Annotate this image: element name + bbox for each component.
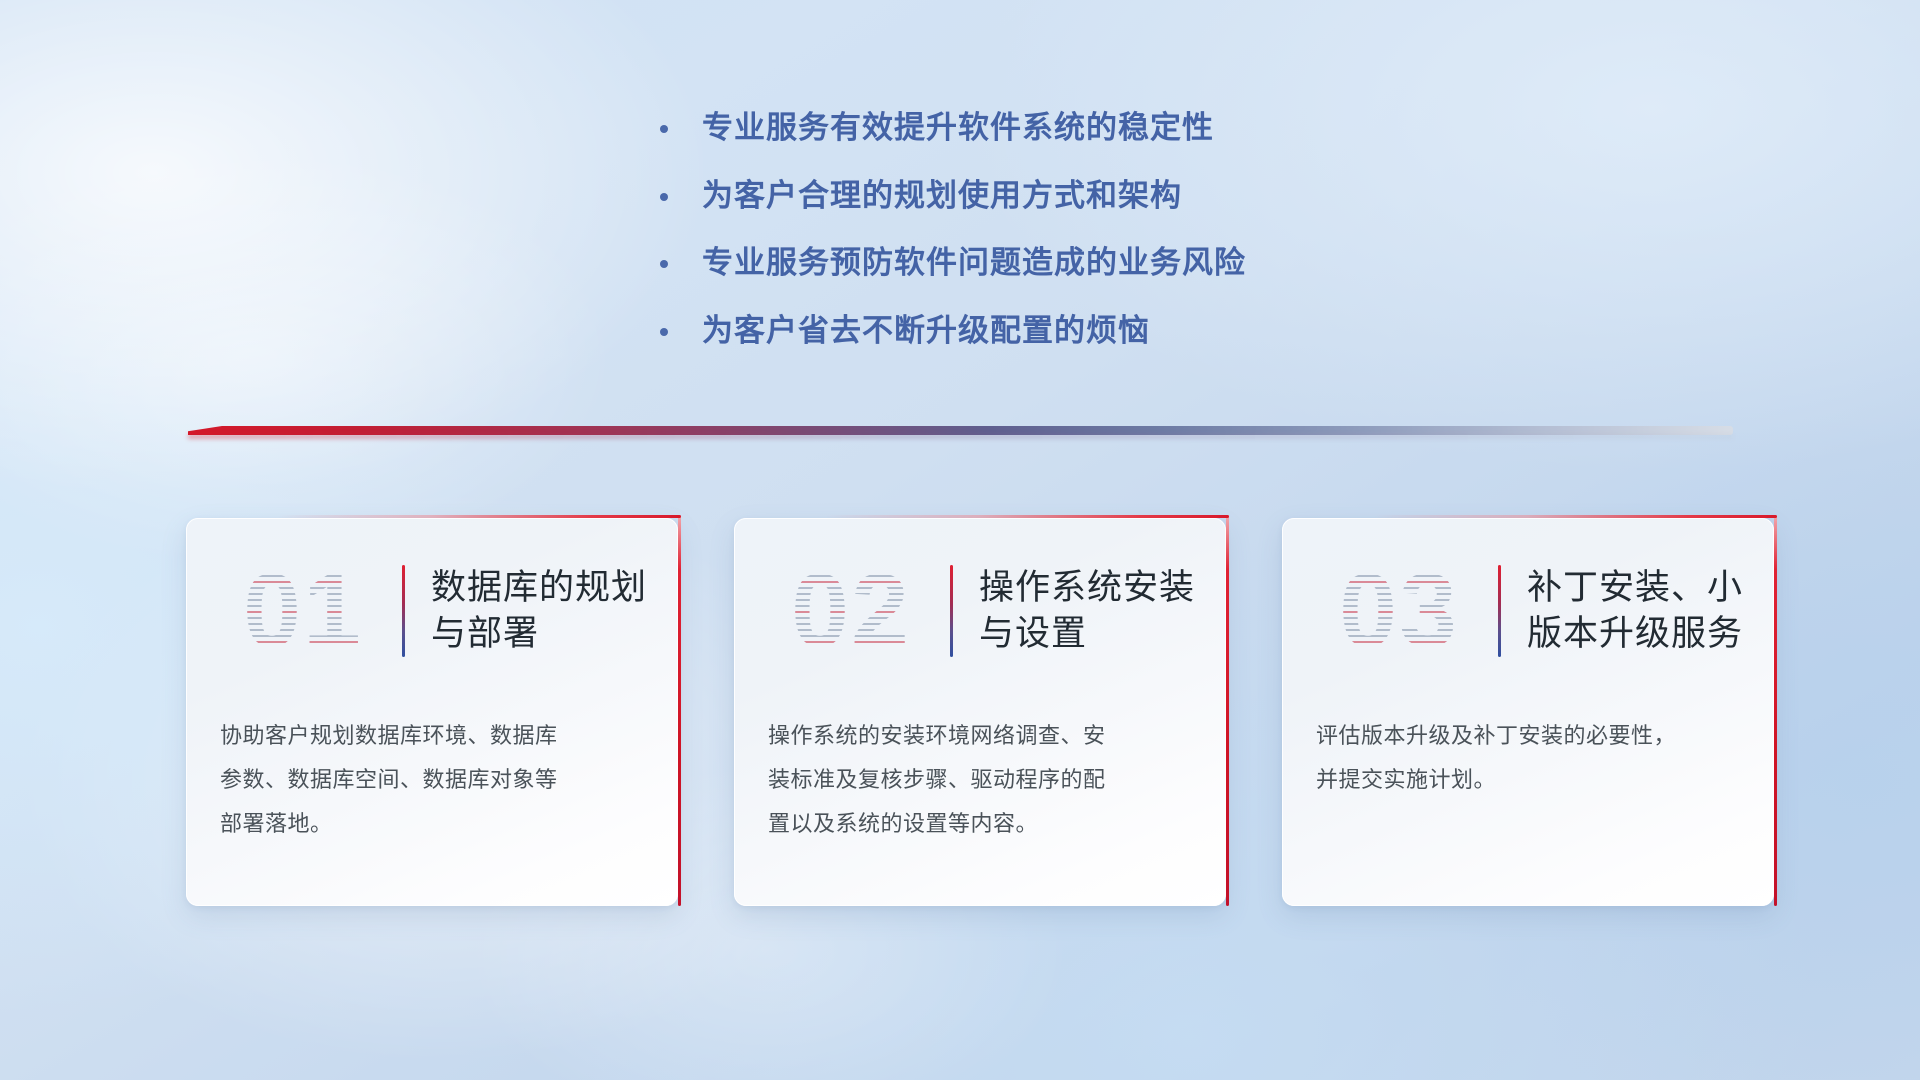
card-header: 0202 操作系统安装 与设置 [734, 546, 1226, 676]
card-header: 0303 补丁安装、小 版本升级服务 [1282, 546, 1774, 676]
card-divider-bar [1498, 565, 1501, 657]
bullet-dot-icon [660, 125, 668, 133]
card-title: 补丁安装、小 版本升级服务 [1527, 565, 1753, 657]
card-divider-bar [950, 565, 953, 657]
card-number: 0101 [210, 551, 396, 671]
bullet-text: 为客户合理的规划使用方式和架构 [702, 176, 1182, 216]
card-number-tint: 01 [210, 551, 396, 671]
card-body-text: 协助客户规划数据库环境、数据库 参数、数据库空间、数据库对象等 部署落地。 [220, 714, 648, 846]
divider-glow [188, 434, 1733, 439]
card-divider-bar [402, 565, 405, 657]
card-accent-edge [1774, 515, 1777, 906]
list-item: 为客户合理的规划使用方式和架构 [660, 176, 1246, 216]
card-number-tint: 02 [758, 551, 944, 671]
bullet-dot-icon [660, 193, 668, 201]
card-accent-edge-top [278, 515, 681, 518]
list-item: 专业服务预防软件问题造成的业务风险 [660, 243, 1246, 283]
bullet-text: 专业服务有效提升软件系统的稳定性 [702, 108, 1214, 148]
card-accent-edge-top [826, 515, 1229, 518]
bullet-text: 专业服务预防软件问题造成的业务风险 [702, 243, 1246, 283]
card-body-text: 操作系统的安装环境网络调查、安 装标准及复核步骤、驱动程序的配 置以及系统的设置… [768, 714, 1196, 846]
card-title: 操作系统安装 与设置 [979, 565, 1205, 657]
card-number: 0202 [758, 551, 944, 671]
bullet-dot-icon [660, 260, 668, 268]
card-header: 0101 数据库的规划 与部署 [186, 546, 678, 676]
card-row: 0101 数据库的规划 与部署 协助客户规划数据库环境、数据库 参数、数据库空间… [186, 518, 1774, 906]
list-item: 专业服务有效提升软件系统的稳定性 [660, 108, 1246, 148]
card-accent-edge-top [1374, 515, 1777, 518]
card-number: 0303 [1306, 551, 1492, 671]
card-number-tint: 03 [1306, 551, 1492, 671]
bullet-list: 专业服务有效提升软件系统的稳定性 为客户合理的规划使用方式和架构 专业服务预防软… [660, 108, 1246, 351]
bullet-text: 为客户省去不断升级配置的烦恼 [702, 311, 1150, 351]
gradient-divider-line [188, 424, 1733, 438]
card-accent-edge [678, 515, 681, 906]
card-accent-edge [1226, 515, 1229, 906]
content-card-01[interactable]: 0101 数据库的规划 与部署 协助客户规划数据库环境、数据库 参数、数据库空间… [186, 518, 678, 906]
list-item: 为客户省去不断升级配置的烦恼 [660, 311, 1246, 351]
card-title: 数据库的规划 与部署 [431, 565, 657, 657]
bullet-dot-icon [660, 328, 668, 336]
slide-canvas: 专业服务有效提升软件系统的稳定性 为客户合理的规划使用方式和架构 专业服务预防软… [0, 0, 1920, 1080]
content-card-03[interactable]: 0303 补丁安装、小 版本升级服务 评估版本升级及补丁安装的必要性， 并提交实… [1282, 518, 1774, 906]
card-body-text: 评估版本升级及补丁安装的必要性， 并提交实施计划。 [1316, 714, 1744, 802]
content-card-02[interactable]: 0202 操作系统安装 与设置 操作系统的安装环境网络调查、安 装标准及复核步骤… [734, 518, 1226, 906]
